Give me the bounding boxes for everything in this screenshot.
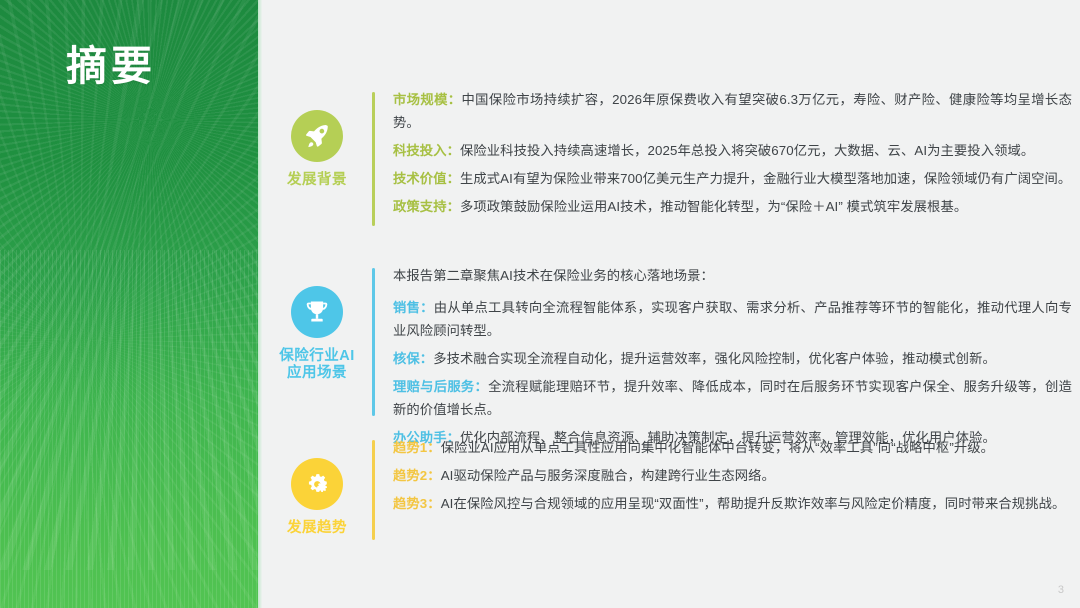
paragraph: 市场规模：中国保险市场持续扩容，2026年原保费收入有望突破6.3万亿元，寿险、… bbox=[393, 88, 1072, 134]
paragraph-lead: 科技投入： bbox=[393, 143, 460, 158]
trophy-icon bbox=[291, 286, 343, 338]
paragraph-body: 多项政策鼓励保险业运用AI技术，推动智能化转型，为“保险＋AI” 模式筑牢发展根… bbox=[460, 199, 967, 214]
paragraph: 核保：多技术融合实现全流程自动化，提升运营效率，强化风险控制，优化客户体验，推动… bbox=[393, 347, 1072, 370]
section-label-line2: 应用场景 bbox=[287, 365, 347, 381]
paragraph-body: 生成式AI有望为保险业带来700亿美元生产力提升，金融行业大模型落地加速，保险领… bbox=[460, 171, 1071, 186]
paragraph: 理赔与后服务：全流程赋能理赔环节，提升效率、降低成本，同时在后服务环节实现客户保… bbox=[393, 375, 1072, 421]
section-icon-column: 发展趋势 bbox=[262, 436, 372, 537]
paragraph: 趋势1：保险业AI应用从单点工具性应用向集中化智能体中台转变，将从“效率工具”向… bbox=[393, 436, 1072, 459]
paragraph-lead: 政策支持： bbox=[393, 199, 460, 214]
section-text-scenarios: 本报告第二章聚焦AI技术在保险业务的核心落地场景： 销售：由从单点工具转向全流程… bbox=[375, 264, 1080, 449]
paragraph-lead: 趋势3： bbox=[393, 496, 441, 511]
paragraph-body: 保险业科技投入持续高速增长，2025年总投入将突破670亿元，大数据、云、AI为… bbox=[460, 143, 1034, 158]
paragraph-body: 由从单点工具转向全流程智能体系，实现客户获取、需求分析、产品推荐等环节的智能化，… bbox=[393, 300, 1072, 338]
paragraph-body: 全流程赋能理赔环节，提升效率、降低成本，同时在后服务环节实现客户保全、服务升级等… bbox=[393, 379, 1072, 417]
paragraph-lead: 销售： bbox=[393, 300, 434, 315]
section-label-line1: 保险行业AI bbox=[279, 348, 355, 364]
paragraph: 趋势3：AI在保险风控与合规领域的应用呈现“双面性”，帮助提升反欺诈效率与风险定… bbox=[393, 492, 1072, 515]
section-scenarios: 保险行业AI应用场景 本报告第二章聚焦AI技术在保险业务的核心落地场景： 销售：… bbox=[262, 264, 1080, 449]
rocket-icon bbox=[291, 110, 343, 162]
paragraph-lead: 技术价值： bbox=[393, 171, 460, 186]
slide-root: 摘要 i Research 艾瑞咨询 发展背景 bbox=[0, 0, 1080, 608]
paragraph-body: 中国保险市场持续扩容，2026年原保费收入有望突破6.3万亿元，寿险、财产险、健… bbox=[393, 92, 1072, 130]
paragraph: 政策支持：多项政策鼓励保险业运用AI技术，推动智能化转型，为“保险＋AI” 模式… bbox=[393, 195, 1072, 218]
paragraph-body: 多技术融合实现全流程自动化，提升运营效率，强化风险控制，优化客户体验，推动模式创… bbox=[433, 351, 996, 366]
radial-stripe-texture-secondary bbox=[0, 0, 258, 608]
page-number: 3 bbox=[1058, 584, 1064, 596]
paragraph-body: AI在保险风控与合规领域的应用呈现“双面性”，帮助提升反欺诈效率与风险定价精度，… bbox=[441, 496, 1066, 511]
paragraph-lead: 趋势2： bbox=[393, 468, 441, 483]
section-background: 发展背景 市场规模：中国保险市场持续扩容，2026年原保费收入有望突破6.3万亿… bbox=[262, 88, 1080, 226]
paragraph: 销售：由从单点工具转向全流程智能体系，实现客户获取、需求分析、产品推荐等环节的智… bbox=[393, 296, 1072, 342]
left-title-panel bbox=[0, 0, 258, 608]
section-icon-column: 发展背景 bbox=[262, 88, 372, 189]
content-area: 发展背景 市场规模：中国保险市场持续扩容，2026年原保费收入有望突破6.3万亿… bbox=[262, 0, 1080, 608]
paragraph-lead: 核保： bbox=[393, 351, 433, 366]
section-text-background: 市场规模：中国保险市场持续扩容，2026年原保费收入有望突破6.3万亿元，寿险、… bbox=[375, 88, 1080, 218]
paragraph-body: AI驱动保险产品与服务深度融合，构建跨行业生态网络。 bbox=[441, 468, 775, 483]
section-label-scenarios: 保险行业AI应用场景 bbox=[279, 348, 355, 382]
section-icon-column: 保险行业AI应用场景 bbox=[262, 264, 372, 382]
paragraph-lead: 理赔与后服务： bbox=[393, 379, 488, 394]
section-text-trends: 趋势1：保险业AI应用从单点工具性应用向集中化智能体中台转变，将从“效率工具”向… bbox=[375, 436, 1080, 515]
paragraph-lead: 趋势1： bbox=[393, 440, 441, 455]
section-trends: 发展趋势 趋势1：保险业AI应用从单点工具性应用向集中化智能体中台转变，将从“效… bbox=[262, 436, 1080, 540]
paragraph-lead: 市场规模： bbox=[393, 92, 461, 107]
vertical-stripe-texture bbox=[0, 250, 258, 608]
section-label-background: 发展背景 bbox=[287, 172, 347, 189]
section-label-trends: 发展趋势 bbox=[287, 520, 347, 537]
paragraph: 技术价值：生成式AI有望为保险业带来700亿美元生产力提升，金融行业大模型落地加… bbox=[393, 167, 1072, 190]
section-intro: 本报告第二章聚焦AI技术在保险业务的核心落地场景： bbox=[393, 264, 1072, 287]
paragraph: 趋势2：AI驱动保险产品与服务深度融合，构建跨行业生态网络。 bbox=[393, 464, 1072, 487]
paragraph: 科技投入：保险业科技投入持续高速增长，2025年总投入将突破670亿元，大数据、… bbox=[393, 139, 1072, 162]
paragraph-body: 保险业AI应用从单点工具性应用向集中化智能体中台转变，将从“效率工具”向“战略中… bbox=[441, 440, 994, 455]
page-title: 摘要 bbox=[66, 42, 156, 91]
gears-icon bbox=[291, 458, 343, 510]
